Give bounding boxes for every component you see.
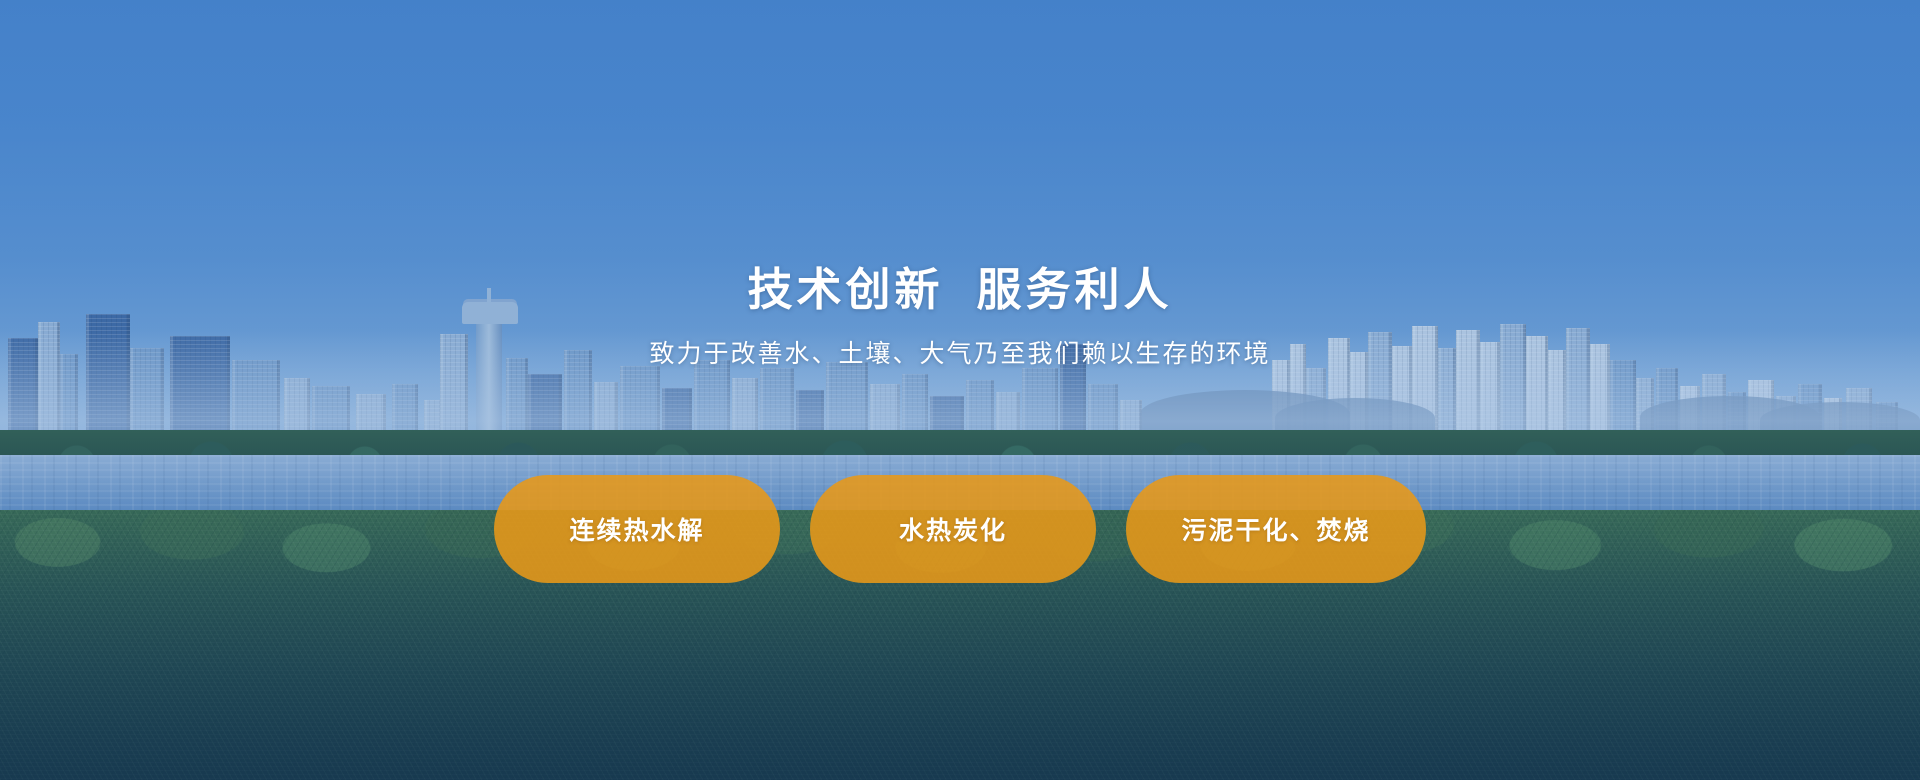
hero-banner: 技术创新 服务利人 致力于改善水、土壤、大气乃至我们赖以生存的环境 连续热水解 …	[0, 0, 1920, 780]
page-subtitle: 致力于改善水、土壤、大气乃至我们赖以生存的环境	[0, 338, 1920, 371]
service-pill-row: 连续热水解 水热炭化 污泥干化、焚烧	[0, 475, 1920, 583]
page-title: 技术创新 服务利人	[0, 262, 1920, 318]
hero-copy-block: 技术创新 服务利人 致力于改善水、土壤、大气乃至我们赖以生存的环境	[0, 262, 1920, 371]
pill-button-continuous-thermal-hydrolysis[interactable]: 连续热水解	[494, 475, 780, 583]
pill-button-hydrothermal-carbonization[interactable]: 水热炭化	[810, 475, 1096, 583]
pill-button-sludge-drying-incineration[interactable]: 污泥干化、焚烧	[1126, 475, 1426, 583]
